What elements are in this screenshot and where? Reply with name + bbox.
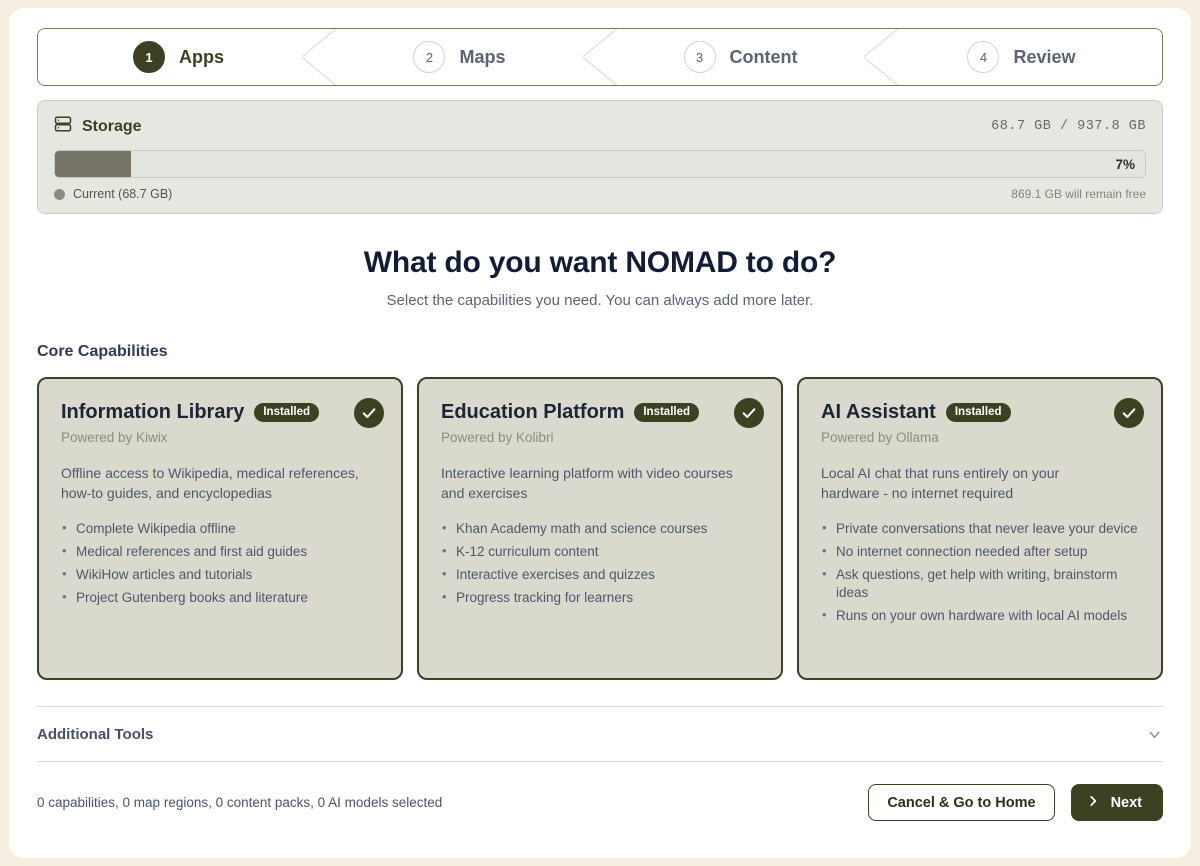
card-powered-by: Powered by Ollama bbox=[821, 430, 1139, 445]
step-content[interactable]: 3 Content bbox=[600, 29, 881, 85]
storage-progress-bar: 7% bbox=[54, 150, 1146, 178]
check-circle-icon[interactable] bbox=[1114, 398, 1144, 428]
legend-dot-icon bbox=[54, 189, 65, 200]
step-maps-number: 2 bbox=[413, 41, 445, 73]
step-apps-label: Apps bbox=[179, 47, 224, 68]
check-circle-icon[interactable] bbox=[734, 398, 764, 428]
additional-tools-accordion[interactable]: Additional Tools bbox=[37, 707, 1163, 761]
capability-card-grid: Information Library Installed Powered by… bbox=[37, 377, 1163, 680]
card-powered-by: Powered by Kiwix bbox=[61, 430, 379, 445]
card-title: Education Platform bbox=[441, 401, 624, 424]
status-badge: Installed bbox=[946, 403, 1011, 422]
step-maps[interactable]: 2 Maps bbox=[319, 29, 600, 85]
card-description: Interactive learning platform with video… bbox=[441, 463, 740, 503]
next-button-label: Next bbox=[1111, 795, 1142, 811]
footer-bar: 0 capabilities, 0 map regions, 0 content… bbox=[37, 762, 1163, 821]
card-title-row: AI Assistant Installed bbox=[821, 401, 1139, 424]
chevron-right-icon bbox=[1086, 794, 1100, 812]
list-item: Complete Wikipedia offline bbox=[61, 520, 379, 538]
additional-tools-label: Additional Tools bbox=[37, 726, 153, 743]
step-apps[interactable]: 1 Apps bbox=[38, 29, 319, 85]
storage-header: Storage 68.7 GB / 937.8 GB bbox=[54, 115, 1146, 138]
card-feature-list: Khan Academy math and science courses K-… bbox=[441, 520, 759, 607]
list-item: Ask questions, get help with writing, br… bbox=[821, 566, 1139, 602]
step-review[interactable]: 4 Review bbox=[881, 29, 1162, 85]
storage-legend-label: Current (68.7 GB) bbox=[73, 187, 172, 201]
card-title: Information Library bbox=[61, 401, 244, 424]
storage-legend: Current (68.7 GB) bbox=[54, 187, 172, 201]
cancel-button[interactable]: Cancel & Go to Home bbox=[868, 784, 1054, 821]
step-maps-label: Maps bbox=[459, 47, 505, 68]
storage-footer: Current (68.7 GB) 869.1 GB will remain f… bbox=[54, 187, 1146, 201]
status-badge: Installed bbox=[634, 403, 699, 422]
server-icon bbox=[54, 115, 72, 138]
footer-actions: Cancel & Go to Home Next bbox=[868, 784, 1163, 821]
page-title: What do you want NOMAD to do? bbox=[37, 246, 1163, 280]
card-title-row: Education Platform Installed bbox=[441, 401, 759, 424]
step-content-label: Content bbox=[730, 47, 798, 68]
card-powered-by: Powered by Kolibri bbox=[441, 430, 759, 445]
list-item: Interactive exercises and quizzes bbox=[441, 566, 759, 584]
wizard-stepper: 1 Apps 2 Maps 3 Content 4 Review bbox=[37, 28, 1163, 86]
check-circle-icon[interactable] bbox=[354, 398, 384, 428]
list-item: No internet connection needed after setu… bbox=[821, 543, 1139, 561]
capability-card-ai-assistant[interactable]: AI Assistant Installed Powered by Ollama… bbox=[797, 377, 1163, 680]
list-item: Runs on your own hardware with local AI … bbox=[821, 607, 1139, 625]
list-item: Project Gutenberg books and literature bbox=[61, 589, 379, 607]
list-item: WikiHow articles and tutorials bbox=[61, 566, 379, 584]
storage-label: Storage bbox=[82, 118, 142, 136]
storage-remaining-text: 869.1 GB will remain free bbox=[1011, 187, 1146, 201]
card-title: AI Assistant bbox=[821, 401, 936, 424]
storage-usage-text: 68.7 GB / 937.8 GB bbox=[991, 119, 1146, 134]
storage-progress-percent: 7% bbox=[1115, 151, 1135, 177]
app-window: 1 Apps 2 Maps 3 Content 4 Review bbox=[9, 8, 1191, 858]
step-review-label: Review bbox=[1013, 47, 1075, 68]
step-apps-number: 1 bbox=[133, 41, 165, 73]
core-capabilities-heading: Core Capabilities bbox=[37, 343, 1163, 361]
next-button[interactable]: Next bbox=[1071, 784, 1163, 821]
card-feature-list: Complete Wikipedia offline Medical refer… bbox=[61, 520, 379, 607]
list-item: Khan Academy math and science courses bbox=[441, 520, 759, 538]
storage-progress-fill bbox=[55, 151, 131, 177]
selection-summary: 0 capabilities, 0 map regions, 0 content… bbox=[37, 795, 442, 810]
list-item: K-12 curriculum content bbox=[441, 543, 759, 561]
capability-card-education-platform[interactable]: Education Platform Installed Powered by … bbox=[417, 377, 783, 680]
capability-card-information-library[interactable]: Information Library Installed Powered by… bbox=[37, 377, 403, 680]
card-description: Offline access to Wikipedia, medical ref… bbox=[61, 463, 360, 503]
page-subtitle: Select the capabilities you need. You ca… bbox=[37, 292, 1163, 309]
status-badge: Installed bbox=[254, 403, 319, 422]
card-description: Local AI chat that runs entirely on your… bbox=[821, 463, 1120, 503]
card-title-row: Information Library Installed bbox=[61, 401, 379, 424]
storage-panel: Storage 68.7 GB / 937.8 GB 7% Current (6… bbox=[37, 100, 1163, 214]
card-feature-list: Private conversations that never leave y… bbox=[821, 520, 1139, 625]
list-item: Private conversations that never leave y… bbox=[821, 520, 1139, 538]
step-review-number: 4 bbox=[967, 41, 999, 73]
chevron-down-icon[interactable] bbox=[1146, 726, 1163, 743]
storage-title-group: Storage bbox=[54, 115, 142, 138]
step-content-number: 3 bbox=[684, 41, 716, 73]
list-item: Progress tracking for learners bbox=[441, 589, 759, 607]
list-item: Medical references and first aid guides bbox=[61, 543, 379, 561]
